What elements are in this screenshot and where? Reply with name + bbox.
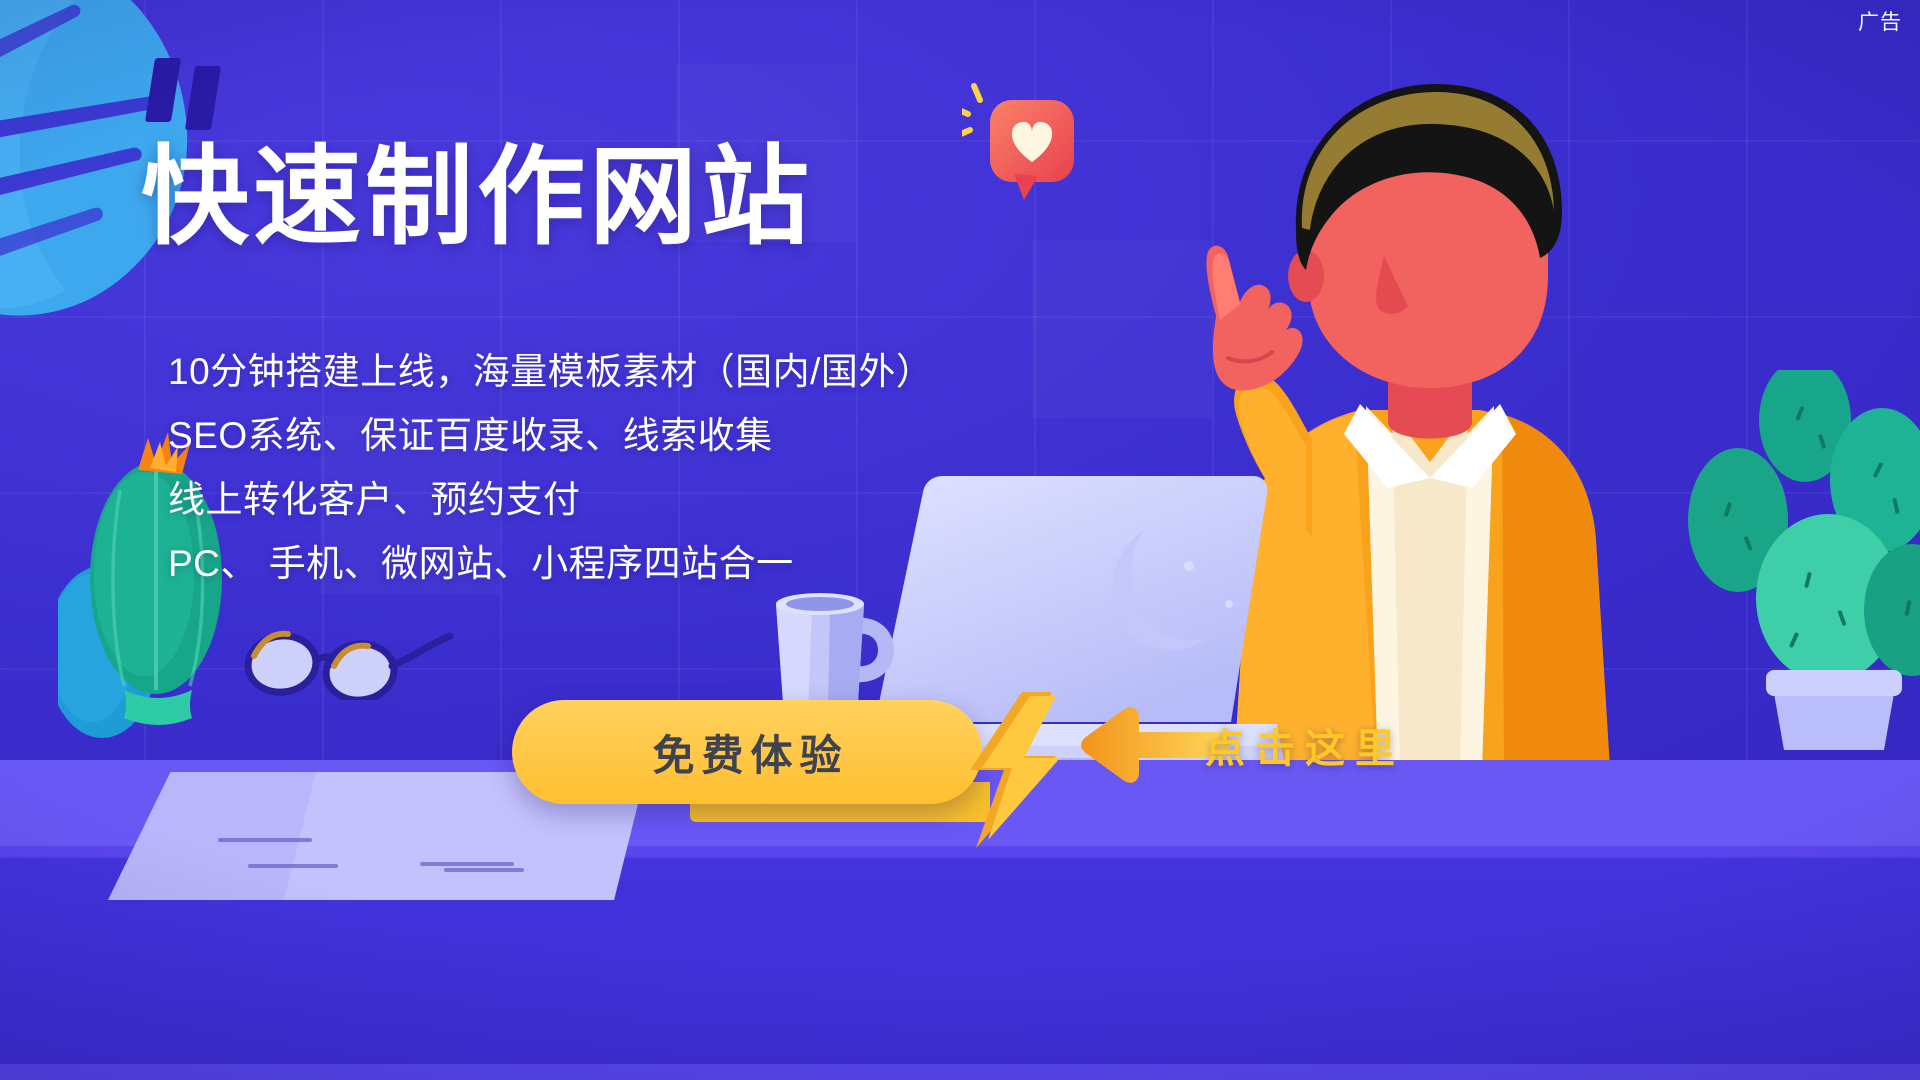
feature-list: 10分钟搭建上线，海量模板素材（国内/国外） SEO系统、保证百度收录、线索收集… (168, 340, 988, 596)
free-trial-button[interactable]: 免费体验 (512, 700, 982, 804)
list-item: PC、 手机、微网站、小程序四站合一 (168, 532, 988, 596)
list-item: 线上转化客户、预约支付 (168, 468, 988, 532)
list-item: 10分钟搭建上线，海量模板素材（国内/国外） (168, 340, 988, 404)
page-title: 快速制作网站 (141, 140, 813, 254)
free-trial-button-label: 免费体验 (645, 722, 848, 783)
lightning-bolt-icon (960, 690, 1080, 850)
list-item: SEO系统、保证百度收录、线索收集 (168, 404, 988, 468)
click-here-hint: 点击这里 (1205, 716, 1405, 774)
advertisement-label: 广告 (1858, 6, 1902, 36)
advertisement-banner[interactable]: 广告 快速制作网站 10分钟搭建上线，海量模板素材（国内/国外） SEO系统、保… (0, 0, 1920, 1080)
